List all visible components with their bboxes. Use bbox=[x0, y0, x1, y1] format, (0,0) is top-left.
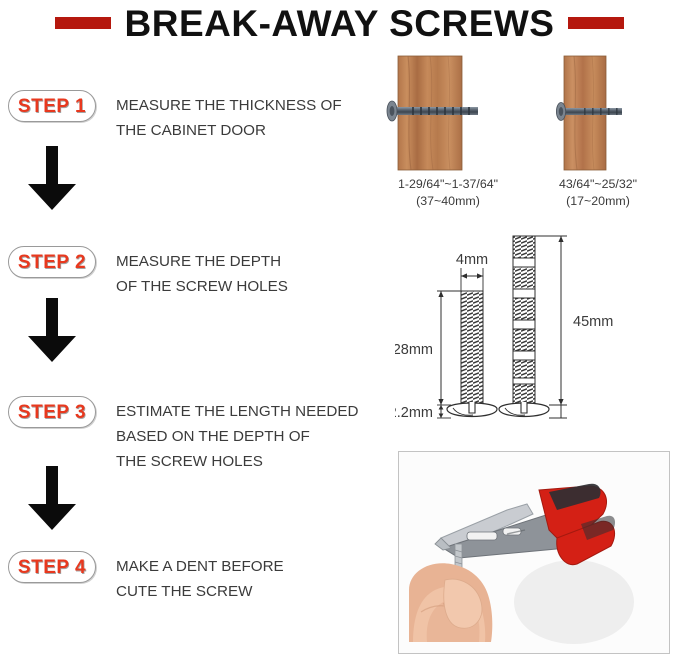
page-title: BREAK-AWAY SCREWS bbox=[125, 5, 555, 42]
step-row-1: STEP 1 MEASURE THE THICKNESS OF THE CABI… bbox=[0, 90, 370, 143]
board-caption-thick: 1-29/64"~1-37/64" (37~40mm) bbox=[378, 176, 518, 210]
step-row-4: STEP 4 MAKE A DENT BEFORE CUTE THE SCREW bbox=[0, 551, 370, 604]
left-red-rule bbox=[55, 17, 111, 29]
step-badge-3: STEP 3 bbox=[8, 396, 96, 428]
board-group-thick: 1-29/64"~1-37/64" (37~40mm) bbox=[378, 52, 518, 179]
page-header: BREAK-AWAY SCREWS bbox=[0, 0, 679, 46]
steps-column: STEP 1 MEASURE THE THICKNESS OF THE CABI… bbox=[0, 46, 370, 662]
board-thickness-illustration: 1-29/64"~1-37/64" (37~40mm) bbox=[370, 52, 679, 222]
screw-dimension-drawing: 4mm 28mm 2.2mm 45mm bbox=[395, 228, 679, 433]
dimension-thread-diameter: 4mm bbox=[456, 252, 488, 268]
step-description-4: MAKE A DENT BEFORE CUTE THE SCREW bbox=[116, 551, 284, 604]
step-badge-label-3: STEP 3 bbox=[18, 403, 86, 422]
step-row-3: STEP 3 ESTIMATE THE LENGTH NEEDED BASED … bbox=[0, 396, 370, 474]
step-badge-label-4: STEP 4 bbox=[18, 558, 86, 577]
thin-board-svg bbox=[528, 52, 668, 174]
board-group-thin: 43/64"~25/32" (17~20mm) bbox=[528, 52, 668, 179]
step-description-1: MEASURE THE THICKNESS OF THE CABINET DOO… bbox=[116, 90, 342, 143]
thick-board-svg bbox=[378, 52, 518, 174]
step-badge-1: STEP 1 bbox=[8, 90, 96, 122]
step-description-2: MEASURE THE DEPTH OF THE SCREW HOLES bbox=[116, 246, 288, 299]
step-badge-2: STEP 2 bbox=[8, 246, 96, 278]
pliers-dent-photo bbox=[398, 451, 670, 654]
step-description-3: ESTIMATE THE LENGTH NEEDED BASED ON THE … bbox=[116, 396, 358, 474]
board-caption-thin: 43/64"~25/32" (17~20mm) bbox=[528, 176, 668, 210]
dimension-head-thickness: 2.2mm bbox=[395, 405, 433, 421]
right-red-rule bbox=[568, 17, 624, 29]
step-badge-label-2: STEP 2 bbox=[18, 253, 86, 272]
dimension-shaft-length: 28mm bbox=[395, 342, 433, 358]
step-row-2: STEP 2 MEASURE THE DEPTH OF THE SCREW HO… bbox=[0, 246, 370, 299]
step-badge-4: STEP 4 bbox=[8, 551, 96, 583]
down-arrow-3 bbox=[26, 466, 78, 532]
step-badge-label-1: STEP 1 bbox=[18, 97, 86, 116]
down-arrow-1 bbox=[26, 146, 78, 212]
down-arrow-2 bbox=[26, 298, 78, 364]
dimension-total-length: 45mm bbox=[573, 314, 613, 330]
